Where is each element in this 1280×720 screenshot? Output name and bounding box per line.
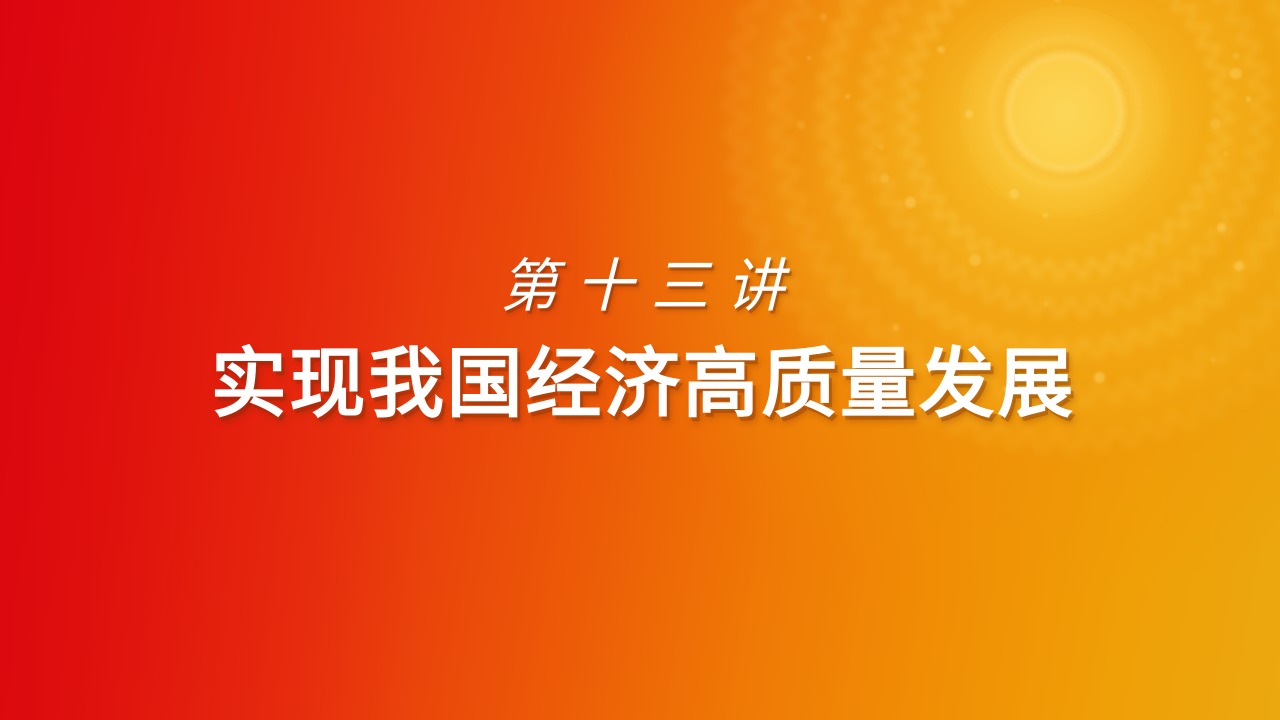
page-title-line-2: 实现我国经济高质量发展 — [208, 344, 1076, 428]
page-title-line-1: 第十三讲 — [483, 257, 802, 318]
title-block: 第十三讲 实现我国经济高质量发展 — [0, 0, 1280, 720]
slide-canvas: 第十三讲 实现我国经济高质量发展 — [0, 0, 1280, 720]
